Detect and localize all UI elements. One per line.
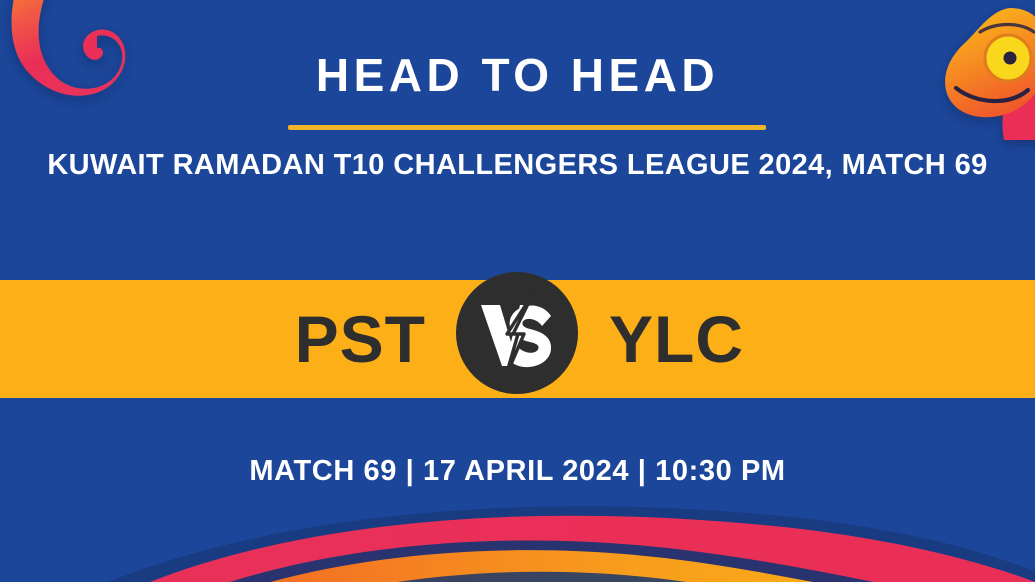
- versus-badge-icon: [456, 272, 578, 394]
- tournament-subtitle: KUWAIT RAMADAN T10 CHALLENGERS LEAGUE 20…: [12, 146, 1023, 184]
- head-to-head-banner: HEAD TO HEAD KUWAIT RAMADAN T10 CHALLENG…: [0, 0, 1035, 582]
- title-underline-rule: [288, 125, 766, 130]
- rainbow-arc-graphic: [0, 506, 1035, 582]
- page-title: HEAD TO HEAD: [0, 52, 1035, 98]
- away-team-code: YLC: [573, 280, 1035, 398]
- banner-header: HEAD TO HEAD KUWAIT RAMADAN T10 CHALLENG…: [0, 0, 1035, 280]
- versus-badge: [456, 272, 578, 394]
- home-team-code: PST: [0, 280, 462, 398]
- match-meta-line: MATCH 69 | 17 APRIL 2024 | 10:30 PM: [0, 455, 1035, 488]
